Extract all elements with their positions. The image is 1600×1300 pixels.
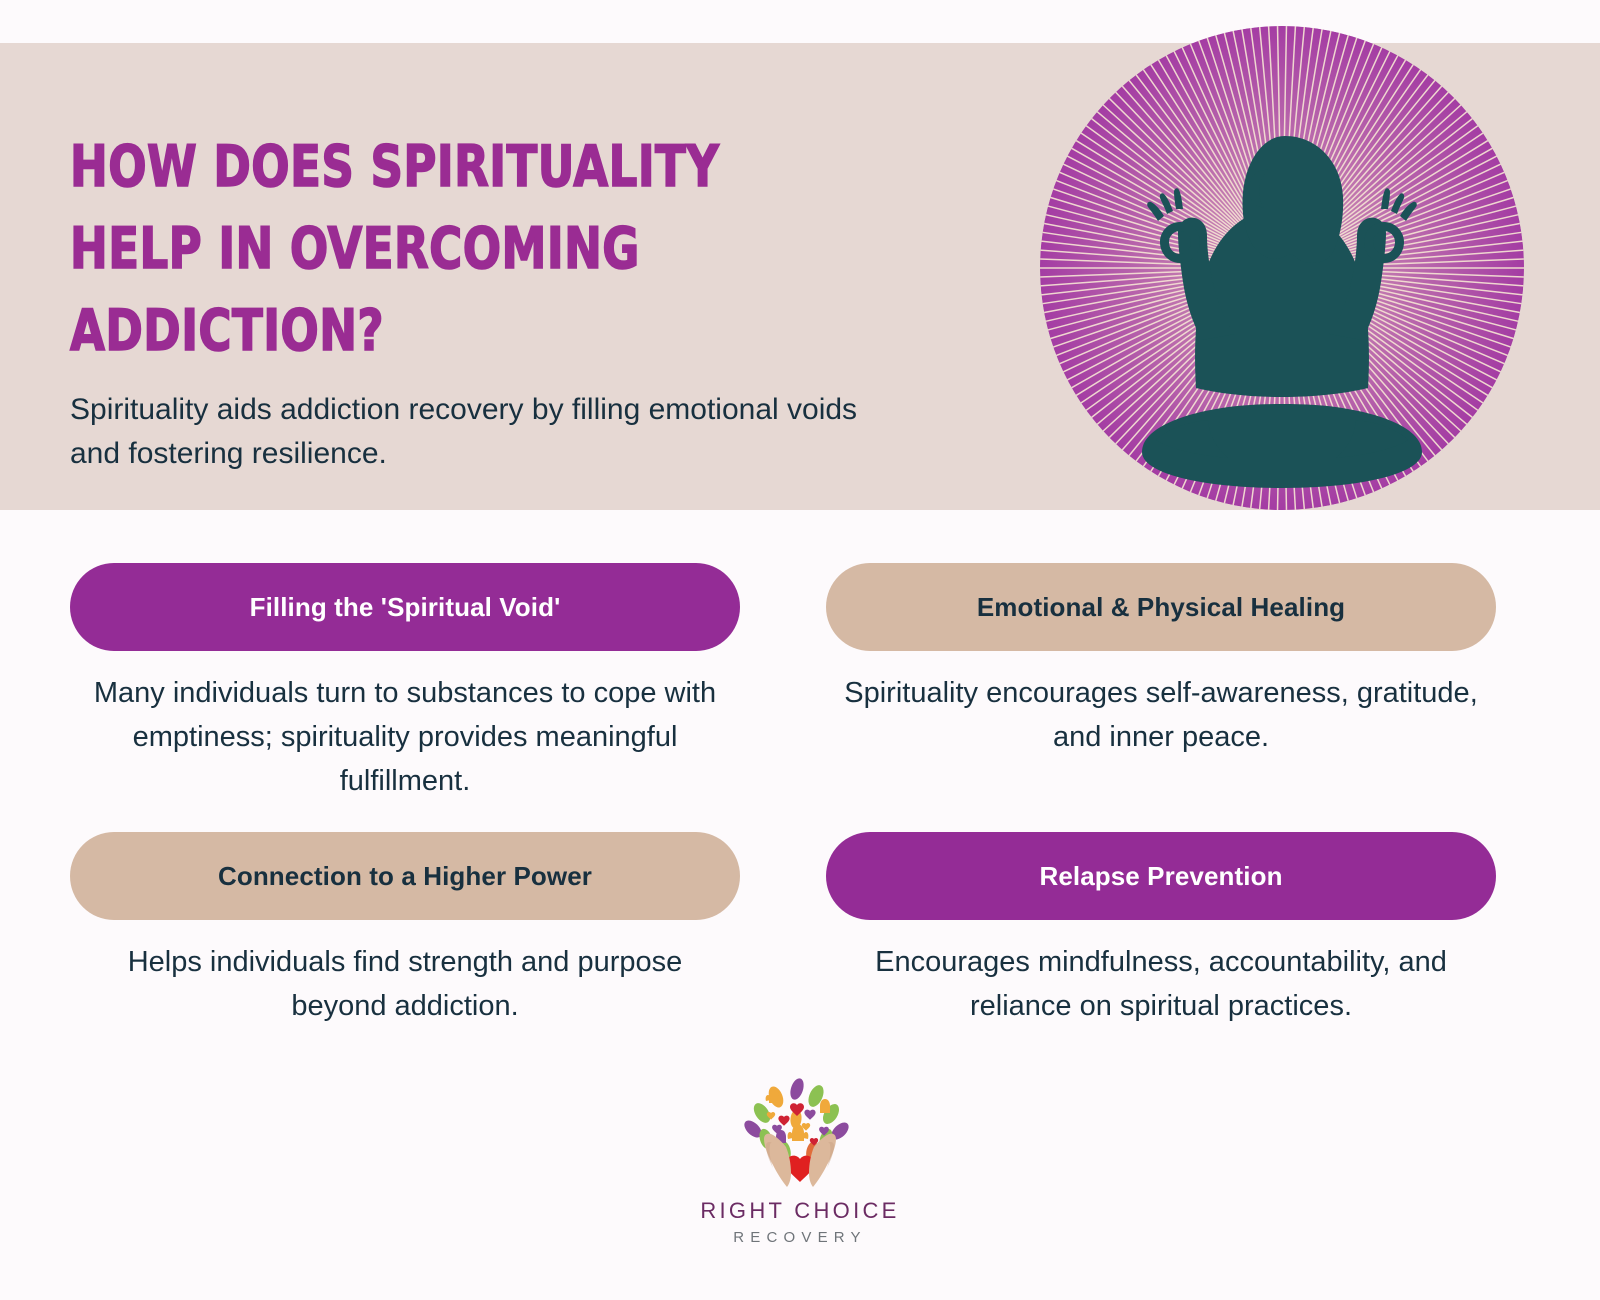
brand-logo: RIGHT CHOICE RECOVERY [650, 1075, 950, 1246]
logo-brand-name: RIGHT CHOICE [650, 1198, 950, 1224]
card-body-text: Encourages mindfulness, accountability, … [826, 940, 1496, 1028]
card-body-text: Many individuals turn to substances to c… [70, 671, 740, 803]
card-connection-to-a-higher-power: Connection to a Higher Power Helps indiv… [70, 832, 740, 1028]
page-subtitle: Spirituality aids addiction recovery by … [70, 388, 900, 477]
card-body-text: Helps individuals find strength and purp… [70, 940, 740, 1028]
logo-tagline: RECOVERY [650, 1229, 950, 1246]
meditating-person-sunburst-illustration [1032, 18, 1532, 518]
card-relapse-prevention: Relapse Prevention Encourages mindfulnes… [826, 832, 1496, 1028]
hands-holding-heart-logo [700, 1075, 900, 1190]
page-title: How does spirituality help in overcoming… [70, 126, 739, 372]
card-heading-pill: Emotional & Physical Healing [826, 563, 1496, 651]
card-heading-pill: Relapse Prevention [826, 832, 1496, 920]
card-heading-pill: Connection to a Higher Power [70, 832, 740, 920]
hero-section: How does spirituality help in overcoming… [0, 0, 1600, 510]
card-heading-pill: Filling the 'Spiritual Void' [70, 563, 740, 651]
card-body-text: Spirituality encourages self-awareness, … [826, 671, 1496, 759]
infographic-page: How does spirituality help in overcoming… [0, 0, 1600, 1300]
card-filling-the-spiritual-void: Filling the 'Spiritual Void' Many indivi… [70, 563, 740, 803]
card-emotional-physical-healing: Emotional & Physical Healing Spiritualit… [826, 563, 1496, 759]
